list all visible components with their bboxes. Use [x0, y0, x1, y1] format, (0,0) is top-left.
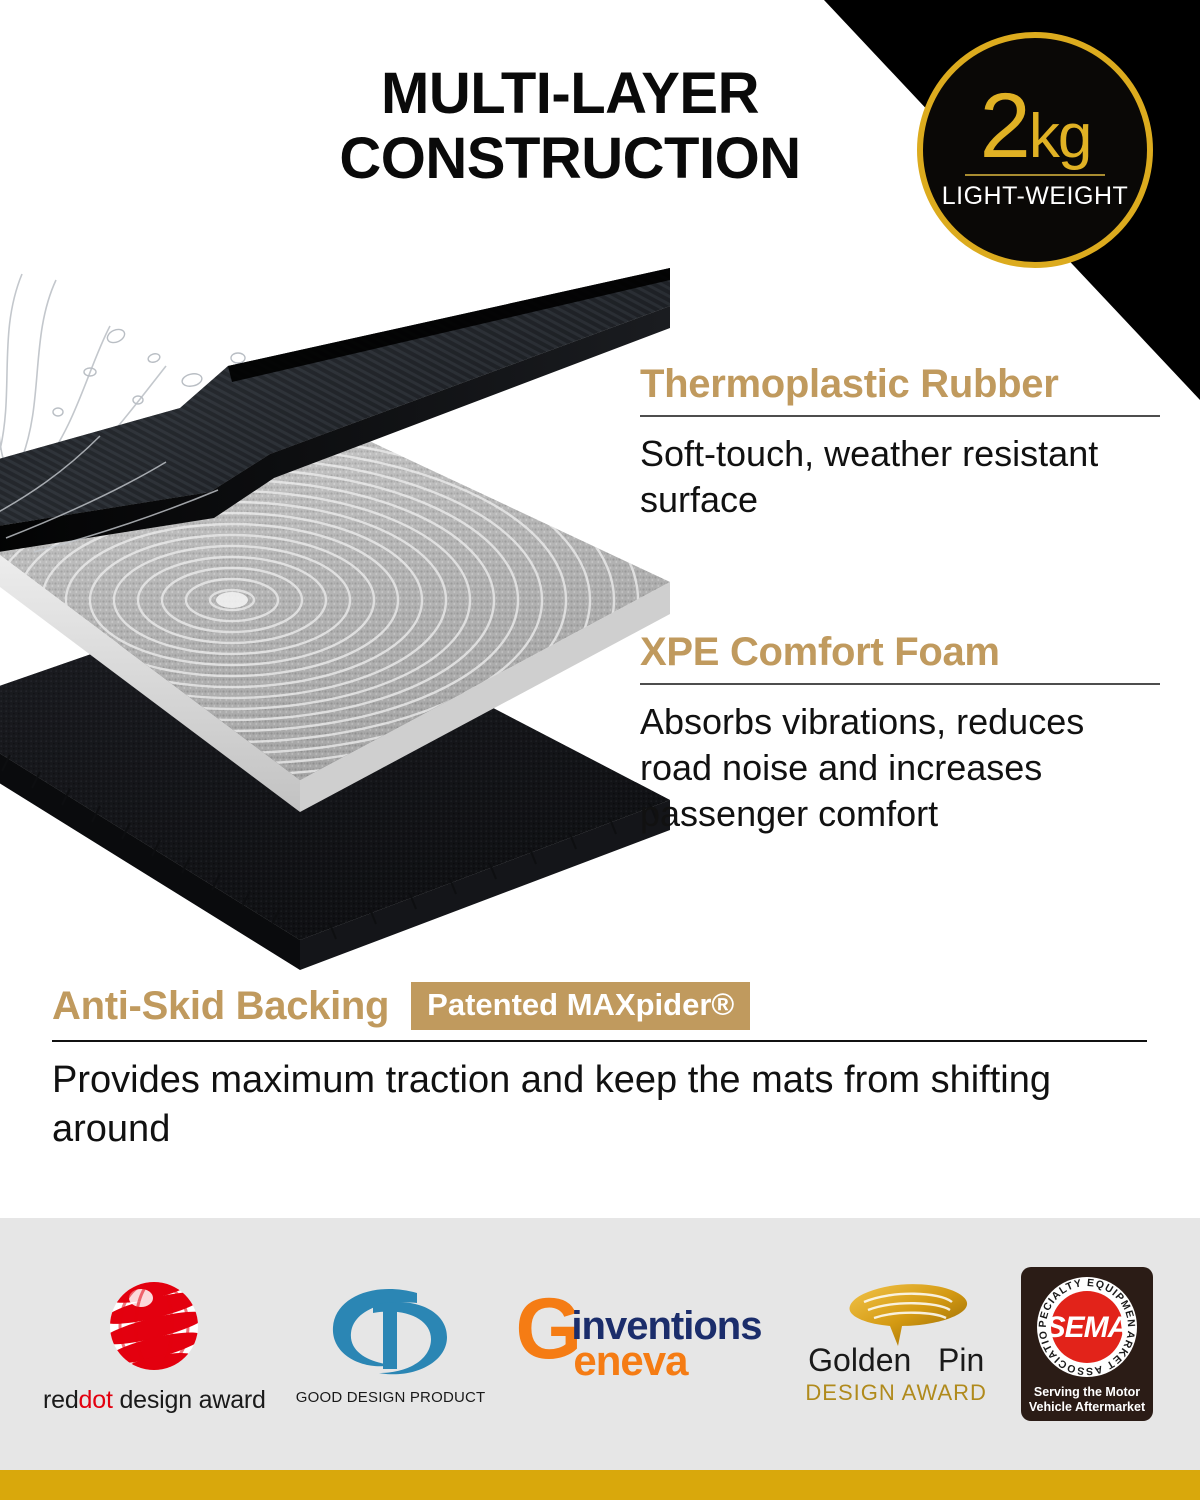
bottom-gold-bar	[0, 1470, 1200, 1500]
feature-divider	[640, 415, 1160, 417]
page-title: MULTI-LAYER CONSTRUCTION	[260, 62, 880, 192]
awards-row: reddot design award GOOD DESIGN PRODUCT …	[0, 1218, 1200, 1470]
golden-pin-subtitle: DESIGN AWARD	[805, 1380, 987, 1406]
good-design-gd-icon	[321, 1283, 461, 1385]
weight-badge: 2kg LIGHT-WEIGHT	[917, 32, 1153, 268]
feature-xpe-comfort-foam: XPE Comfort Foam Absorbs vibrations, red…	[640, 630, 1160, 837]
feature-divider	[52, 1040, 1147, 1042]
feature-body: Absorbs vibrations, reduces road noise a…	[640, 699, 1160, 837]
golden-pin-word-pin: Pin	[938, 1342, 984, 1378]
feature-heading: XPE Comfort Foam	[640, 630, 1160, 675]
golden-pin-swirl-icon	[806, 1282, 986, 1348]
weight-unit: kg	[1029, 102, 1090, 171]
sema-badge-icon: SPECIALTY EQUIPMENT MARKET ASSOCIATION S…	[1017, 1265, 1157, 1423]
award-inventions-geneva: G inventions eneva	[515, 1298, 775, 1390]
golden-pin-word-golden: Golden	[808, 1342, 911, 1378]
title-line-2: CONSTRUCTION	[260, 127, 880, 192]
award-sema: SPECIALTY EQUIPMENT MARKET ASSOCIATION S…	[1017, 1265, 1157, 1423]
feature-divider	[640, 683, 1160, 685]
reddot-wordmark: reddot design award	[43, 1386, 266, 1415]
award-reddot: reddot design award	[43, 1274, 266, 1415]
geneva-word-eneva: eneva	[573, 1340, 687, 1382]
reddot-sphere-icon	[79, 1274, 229, 1386]
badge-divider	[965, 174, 1105, 176]
inventions-geneva-lockup: G inventions eneva	[515, 1298, 775, 1390]
award-golden-pin: Golden Pin DESIGN AWARD	[805, 1282, 987, 1406]
weight-caption: LIGHT-WEIGHT	[942, 182, 1129, 211]
feature-thermoplastic-rubber: Thermoplastic Rubber Soft-touch, weather…	[640, 362, 1160, 523]
feature-body: Provides maximum traction and keep the m…	[52, 1056, 1147, 1153]
golden-pin-wordmark: Golden Pin	[805, 1344, 987, 1376]
patent-badge: Patented MAXpider®	[411, 982, 750, 1030]
feature-body: Soft-touch, weather resistant surface	[640, 431, 1160, 523]
svg-text:SEMA: SEMA	[1046, 1311, 1129, 1344]
infographic-page: MULTI-LAYER CONSTRUCTION 2kg LIGHT-WEIGH…	[0, 0, 1200, 1500]
feature-heading: Thermoplastic Rubber	[640, 362, 1160, 407]
feature-heading: Anti-Skid Backing	[52, 984, 389, 1029]
title-line-1: MULTI-LAYER	[260, 62, 880, 127]
exploded-product-illustration	[0, 240, 690, 970]
feature-anti-skid-backing: Anti-Skid Backing Patented MAXpider® Pro…	[52, 982, 1147, 1153]
weight-value-row: 2kg	[980, 83, 1091, 170]
reddot-word-design-award: design award	[113, 1386, 266, 1414]
good-design-caption: GOOD DESIGN PRODUCT	[296, 1389, 486, 1406]
weight-number: 2	[980, 75, 1029, 177]
reddot-word-dot: dot	[79, 1386, 113, 1414]
svg-text:Serving the Motor: Serving the Motor	[1034, 1385, 1140, 1399]
award-good-design: GOOD DESIGN PRODUCT	[296, 1283, 486, 1406]
reddot-word-red: red	[43, 1386, 79, 1414]
feature-heading-row: Anti-Skid Backing Patented MAXpider®	[52, 982, 1147, 1030]
svg-text:Vehicle Aftermarket: Vehicle Aftermarket	[1029, 1400, 1146, 1414]
